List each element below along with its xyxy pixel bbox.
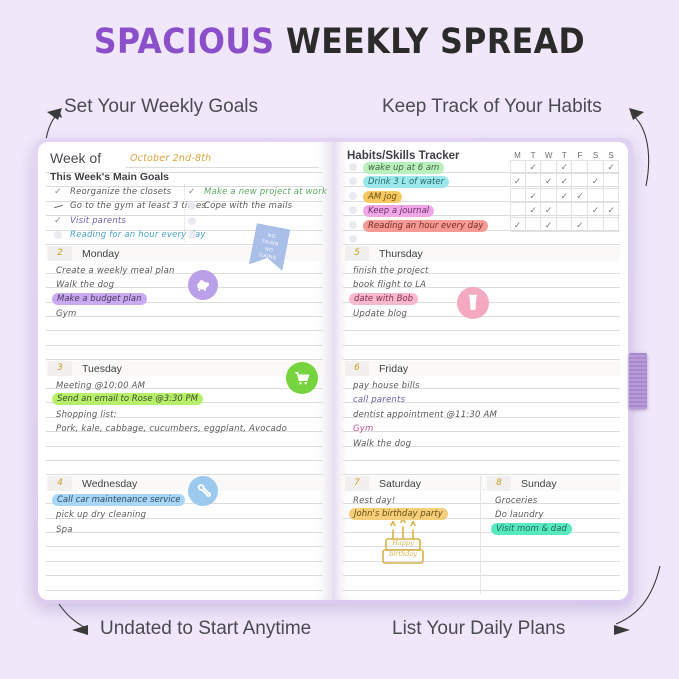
task-text: finish the project — [353, 266, 429, 276]
habit-check-icon[interactable]: ✓ — [526, 191, 541, 202]
tracker-cell[interactable] — [572, 160, 588, 174]
no-pains-no-gains-sticker[interactable]: NOPAINSNOGAINS — [245, 221, 292, 279]
tracker-cell[interactable] — [604, 189, 620, 203]
habit-checkbox[interactable] — [349, 235, 357, 243]
tracker-column-5: S — [588, 151, 603, 160]
habit-check-icon[interactable]: ✓ — [541, 176, 556, 187]
goals-column-divider — [184, 184, 185, 242]
day-name: Wednesday — [82, 478, 137, 490]
task-highlight: Call car maintenance service — [52, 494, 185, 506]
day-name: Tuesday — [82, 363, 122, 375]
tracker-cell[interactable] — [557, 218, 573, 232]
day-name: Sunday — [521, 478, 557, 490]
task-highlight: John's birthday party — [349, 508, 448, 520]
habit-check-icon[interactable]: ✓ — [588, 176, 603, 187]
tracker-cell[interactable] — [526, 218, 542, 232]
tracker-cell[interactable] — [572, 174, 588, 188]
habit-check-icon[interactable]: ✓ — [510, 176, 525, 187]
day-name: Thursday — [379, 248, 423, 260]
cake-text-line: Happy — [377, 538, 429, 549]
tracker-cell[interactable] — [557, 203, 573, 217]
tracker-column-3: T — [557, 151, 572, 160]
habit-checkbox[interactable] — [349, 192, 357, 200]
goal-check-icon[interactable]: ✓ — [54, 186, 62, 197]
tracker-cell[interactable] — [588, 218, 604, 232]
day-number: 8 — [487, 476, 511, 491]
callout-list-daily-plans: List Your Daily Plans — [392, 618, 565, 640]
tracker-cell[interactable] — [510, 203, 526, 217]
day-name: Monday — [82, 248, 119, 260]
task-text: book flight to LA — [353, 280, 426, 290]
week-of-value[interactable]: October 2nd-8th — [130, 153, 211, 164]
day-number: 4 — [48, 476, 72, 491]
cup-sticker[interactable] — [457, 287, 489, 319]
habit-check-icon[interactable]: ✓ — [526, 205, 541, 216]
right-page-content: Habits/Skills TrackerMTWTFSSwake up at 6… — [335, 142, 628, 600]
task-text: Create a weekly meal plan — [56, 266, 175, 276]
notebook-right-page: Habits/Skills TrackerMTWTFSSwake up at 6… — [335, 142, 628, 600]
tracker-title: Habits/Skills Tracker — [347, 150, 460, 162]
callout-undated-start-anytime: Undated to Start Anytime — [100, 618, 311, 640]
day-number: 7 — [345, 476, 369, 491]
task-text: pick up dry cleaning — [56, 510, 146, 520]
week-of-label: Week of — [50, 150, 101, 166]
task-highlight: Send an email to Rose @3:30 PM — [52, 393, 203, 405]
birthday-cake-sticker[interactable]: Happybirthday — [377, 520, 429, 570]
task-text: Update blog — [353, 309, 407, 319]
habit-checkbox[interactable] — [349, 163, 357, 171]
habit-check-icon[interactable]: ✓ — [541, 205, 556, 216]
goals-title: This Week's Main Goals — [50, 171, 169, 183]
tracker-column-4: F — [572, 151, 587, 160]
tracker-cell[interactable] — [541, 189, 557, 203]
habit-checkbox[interactable] — [349, 206, 357, 214]
day-number: 2 — [48, 246, 72, 261]
task-text: Groceries — [495, 496, 538, 506]
tracker-column-6: S — [604, 151, 619, 160]
task-highlight: Make a budget plan — [52, 293, 147, 305]
task-text: Gym — [56, 309, 77, 319]
tracker-column-2: W — [541, 151, 556, 160]
goal-checkbox[interactable] — [188, 217, 196, 225]
task-text: Pork, kale, cabbage, cucumbers, eggplant… — [56, 424, 287, 434]
habit-check-icon[interactable]: ✓ — [526, 162, 541, 173]
callout-keep-track-habits: Keep Track of Your Habits — [382, 96, 602, 118]
notebook: Week ofOctober 2nd-8thThis Week's Main G… — [33, 138, 633, 604]
goal-strike-mark[interactable] — [54, 205, 63, 208]
task-text: call parents — [353, 395, 405, 405]
day-number: 6 — [345, 361, 369, 376]
cake-text: Happybirthday — [377, 538, 429, 560]
tracker-cell[interactable] — [572, 203, 588, 217]
tracker-column-0: M — [510, 151, 525, 160]
habit-label: wake up at 6 am — [363, 162, 444, 174]
callout-set-weekly-goals: Set Your Weekly Goals — [64, 96, 258, 118]
day-number: 3 — [48, 361, 72, 376]
habit-checkbox[interactable] — [349, 177, 357, 185]
goal-check-icon[interactable]: ✓ — [188, 186, 196, 197]
task-text: Walk the dog — [353, 439, 411, 449]
habit-checkbox[interactable] — [349, 221, 357, 229]
sat-sun-divider — [480, 476, 481, 594]
tracker-cell[interactable] — [588, 189, 604, 203]
habit-label: Reading an hour every day — [363, 220, 488, 232]
wrench-sticker[interactable] — [188, 476, 218, 506]
habit-check-icon[interactable]: ✓ — [557, 176, 572, 187]
task-text: Gym — [353, 424, 374, 434]
task-highlight: date with Bob — [349, 293, 418, 305]
page-title-main: WEEKLY SPREAD — [286, 22, 585, 62]
notebook-left-page: Week ofOctober 2nd-8thThis Week's Main G… — [38, 142, 331, 600]
tracker-cell[interactable] — [510, 160, 526, 174]
task-text: Meeting @10:00 AM — [56, 381, 145, 391]
task-text: dentist appointment @11:30 AM — [353, 410, 497, 420]
goal-item-text: Make a new project at work — [204, 187, 329, 197]
habit-check-icon[interactable]: ✓ — [604, 162, 619, 173]
goal-checkbox[interactable] — [54, 231, 62, 239]
habit-check-icon[interactable]: ✓ — [557, 191, 572, 202]
day-number: 5 — [345, 246, 369, 261]
day-name: Saturday — [379, 478, 421, 490]
task-text: Spa — [56, 525, 73, 535]
cake-text-line: birthday — [377, 549, 429, 560]
tracker-column-1: T — [526, 151, 541, 160]
task-text: pay house bills — [353, 381, 420, 391]
habit-label: AM jog — [363, 191, 402, 203]
habit-check-icon[interactable]: ✓ — [510, 220, 525, 231]
tracker-cell[interactable] — [541, 160, 557, 174]
tracker-cell[interactable] — [510, 189, 526, 203]
piggy-bank-sticker[interactable] — [188, 270, 218, 300]
tracker-cell[interactable] — [604, 218, 620, 232]
tracker-cell[interactable] — [526, 174, 542, 188]
habit-check-icon[interactable]: ✓ — [604, 205, 619, 216]
page-title: SPACIOUS WEEKLY SPREAD — [0, 22, 679, 62]
task-text: Rest day! — [353, 496, 395, 506]
page-title-accent: SPACIOUS — [94, 22, 286, 62]
goal-check-icon[interactable]: ✓ — [54, 215, 62, 226]
habit-check-icon[interactable]: ✓ — [572, 220, 587, 231]
shopping-cart-sticker[interactable] — [286, 362, 318, 394]
habit-label: Drink 3 L of water — [363, 176, 449, 188]
week-of-underline — [126, 167, 319, 168]
task-text: Do laundry — [495, 510, 544, 520]
habit-check-icon[interactable]: ✓ — [541, 220, 556, 231]
task-text: Shopping list: — [56, 410, 117, 420]
tracker-cell[interactable] — [588, 160, 604, 174]
tracker-cell[interactable] — [604, 174, 620, 188]
habit-check-icon[interactable]: ✓ — [572, 191, 587, 202]
left-page-content: Week ofOctober 2nd-8thThis Week's Main G… — [38, 142, 331, 600]
elastic-band[interactable] — [629, 353, 647, 409]
goal-item-text: Cope with the mails — [204, 201, 329, 211]
habit-label: Keep a journal — [363, 205, 434, 217]
habit-check-icon[interactable]: ✓ — [557, 162, 572, 173]
task-highlight: Visit mom & dad — [491, 523, 572, 535]
habit-check-icon[interactable]: ✓ — [588, 205, 603, 216]
task-text: Walk the dog — [56, 280, 114, 290]
day-name: Friday — [379, 363, 408, 375]
